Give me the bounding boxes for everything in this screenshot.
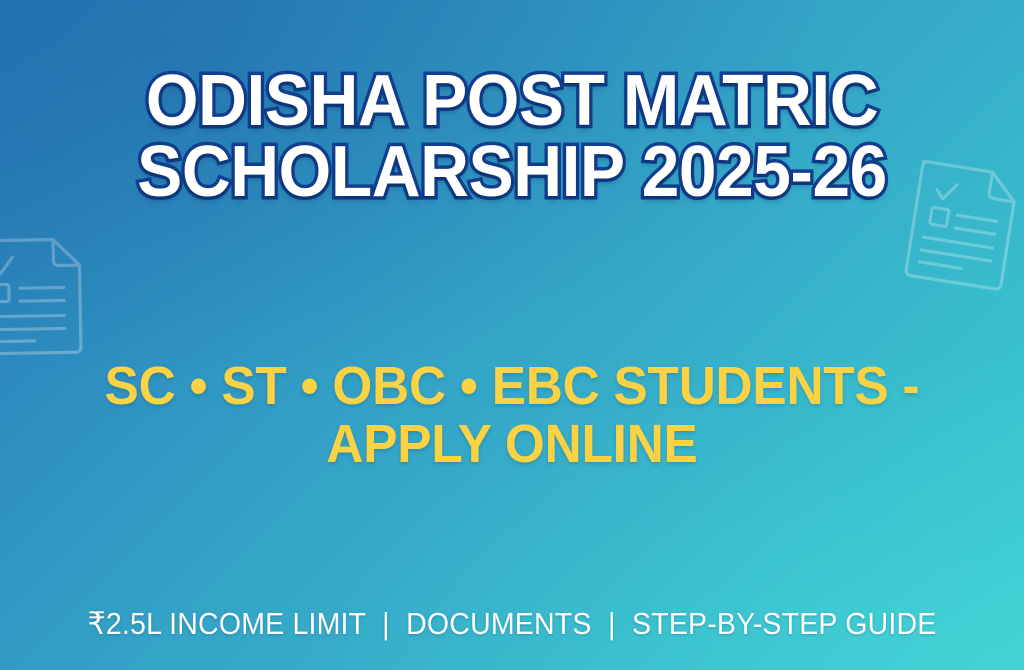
footnote-separator-1: | bbox=[374, 606, 398, 642]
page-subtitle: SC • ST • OBC • EBC STUDENTS - APPLY ONL… bbox=[26, 357, 999, 474]
footnote-separator-2: | bbox=[600, 606, 624, 642]
footnote-item-documents: DOCUMENTS bbox=[406, 606, 591, 641]
page-title-line-1: ODISHA POST MATRIC bbox=[31, 66, 994, 137]
poster-content: ODISHA POST MATRIC SCHOLARSHIP 2025-26 S… bbox=[0, 0, 1024, 670]
scholarship-promo-banner: ODISHA POST MATRIC SCHOLARSHIP 2025-26 S… bbox=[0, 0, 1024, 670]
page-subtitle-line-1: SC • ST • OBC • EBC STUDENTS - bbox=[26, 357, 999, 415]
footnote-item-step-by-step-guide: STEP-BY-STEP GUIDE bbox=[632, 606, 936, 641]
footnote-item-income-limit: ₹2.5L INCOME LIMIT bbox=[88, 606, 366, 641]
poster-footnote: ₹2.5L INCOME LIMIT | DOCUMENTS | STEP-BY… bbox=[41, 606, 983, 642]
page-subtitle-line-2: APPLY ONLINE bbox=[26, 415, 999, 473]
page-title-line-2: SCHOLARSHIP 2025-26 bbox=[31, 137, 994, 208]
page-title: ODISHA POST MATRIC SCHOLARSHIP 2025-26 bbox=[31, 66, 994, 207]
